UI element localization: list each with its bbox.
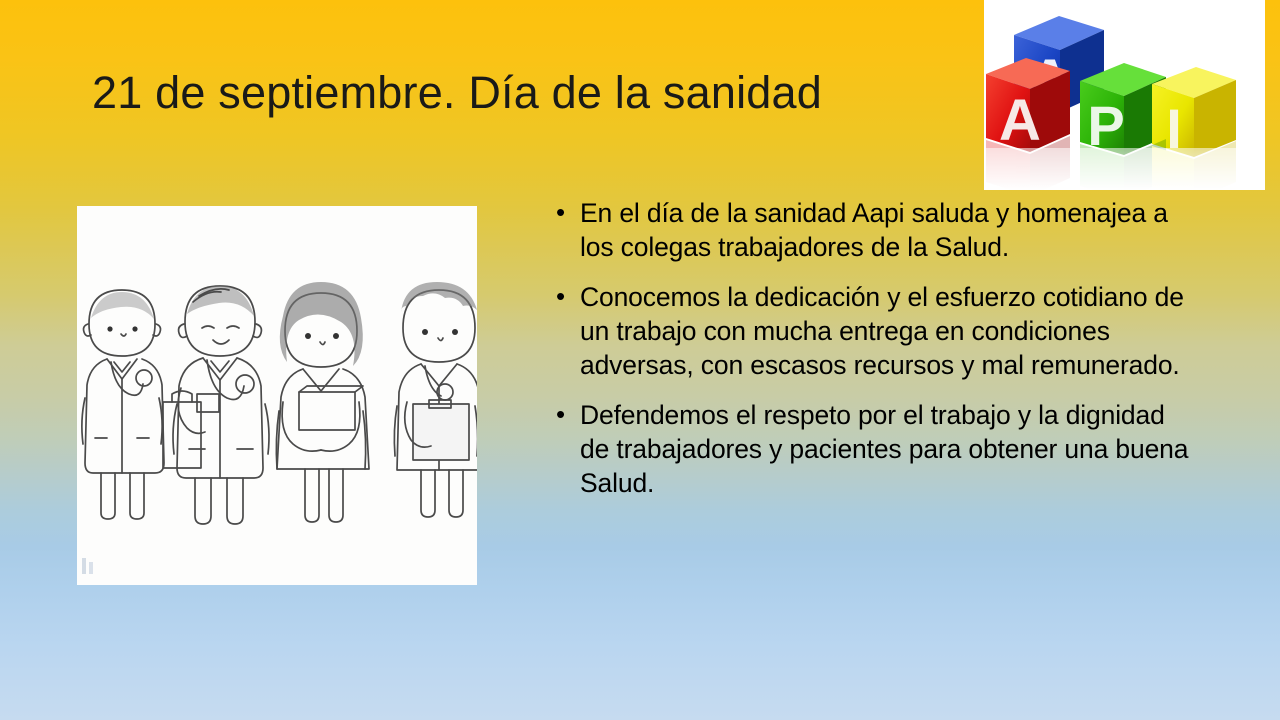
bullet-text: Conocemos la dedicación y el esfuerzo co… bbox=[580, 280, 1196, 382]
svg-text:A: A bbox=[999, 88, 1041, 153]
list-item: • En el día de la sanidad Aapi saluda y … bbox=[556, 196, 1196, 264]
page-title: 21 de septiembre. Día de la sanidad bbox=[92, 68, 972, 118]
bullet-text: En el día de la sanidad Aapi saluda y ho… bbox=[580, 196, 1196, 264]
aapi-logo-icon: A A P I bbox=[984, 0, 1265, 190]
logo-cube-red: A bbox=[986, 58, 1070, 153]
list-item: • Conocemos la dedicación y el esfuerzo … bbox=[556, 280, 1196, 382]
presentation-slide: 21 de septiembre. Día de la sanidad bbox=[0, 0, 1280, 720]
slide-body-text: • En el día de la sanidad Aapi saluda y … bbox=[556, 196, 1196, 500]
health-workers-illustration bbox=[77, 206, 477, 585]
health-workers-sketch-icon bbox=[77, 206, 477, 585]
aapi-logo: A A P I bbox=[984, 0, 1265, 190]
list-item: • Defendemos el respeto por el trabajo y… bbox=[556, 398, 1196, 500]
bullet-marker: • bbox=[556, 280, 580, 313]
bullet-text: Defendemos el respeto por el trabajo y l… bbox=[580, 398, 1196, 500]
bullet-marker: • bbox=[556, 196, 580, 229]
bullet-marker: • bbox=[556, 398, 580, 431]
svg-text:P: P bbox=[1087, 94, 1124, 157]
